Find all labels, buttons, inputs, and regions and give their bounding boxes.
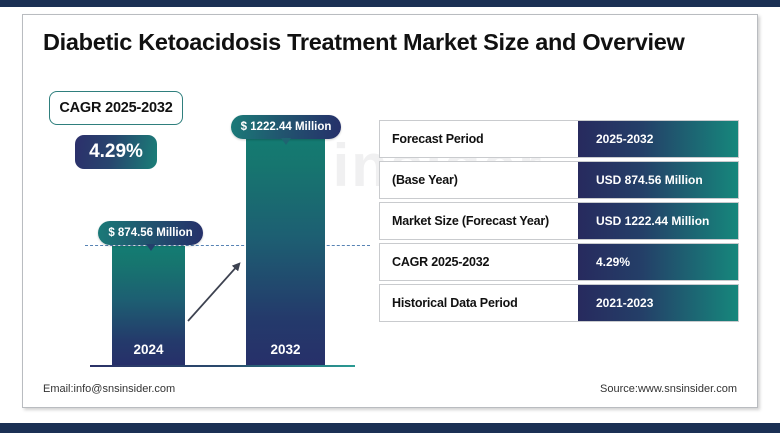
table-cell-value: USD 1222.44 Million bbox=[578, 203, 738, 239]
cagr-value-text: 4.29% bbox=[89, 141, 143, 163]
table-row: CAGR 2025-2032 4.29% bbox=[379, 243, 739, 281]
growth-arrow-icon bbox=[183, 255, 249, 327]
table-cell-label: (Base Year) bbox=[380, 162, 578, 198]
table-cell-label: Forecast Period bbox=[380, 121, 578, 157]
table-row: Forecast Period 2025-2032 bbox=[379, 120, 739, 158]
market-details-table: Forecast Period 2025-2032 (Base Year) US… bbox=[379, 120, 739, 325]
infographic-card: insider Diabetic Ketoacidosis Treatment … bbox=[22, 14, 758, 408]
bottom-accent-strip bbox=[0, 423, 780, 433]
page-title: Diabetic Ketoacidosis Treatment Market S… bbox=[43, 29, 743, 56]
table-cell-value: USD 874.56 Million bbox=[578, 162, 738, 198]
table-row: Historical Data Period 2021-2023 bbox=[379, 284, 739, 322]
table-cell-label: Historical Data Period bbox=[380, 285, 578, 321]
bar-label-2032: 2032 bbox=[246, 342, 325, 357]
value-callout-2032: $ 1222.44 Million bbox=[231, 115, 341, 139]
footer-source: Source:www.snsinsider.com bbox=[600, 383, 737, 395]
bar-label-2024: 2024 bbox=[112, 342, 185, 357]
cagr-label-text: CAGR 2025-2032 bbox=[59, 100, 172, 116]
footer-email: Email:info@snsinsider.com bbox=[43, 383, 175, 395]
top-accent-strip bbox=[0, 0, 780, 7]
bar-2024: 2024 bbox=[112, 246, 185, 365]
table-cell-label: CAGR 2025-2032 bbox=[380, 244, 578, 280]
table-cell-value: 2021-2023 bbox=[578, 285, 738, 321]
cagr-label-badge: CAGR 2025-2032 bbox=[49, 91, 183, 125]
table-row: Market Size (Forecast Year) USD 1222.44 … bbox=[379, 202, 739, 240]
table-row: (Base Year) USD 874.56 Million bbox=[379, 161, 739, 199]
value-callout-2024: $ 874.56 Million bbox=[98, 221, 203, 245]
table-cell-value: 2025-2032 bbox=[578, 121, 738, 157]
infographic-page: insider Diabetic Ketoacidosis Treatment … bbox=[0, 0, 780, 433]
value-callout-2032-text: $ 1222.44 Million bbox=[241, 121, 332, 133]
chart-baseline-axis bbox=[90, 365, 355, 367]
table-cell-label: Market Size (Forecast Year) bbox=[380, 203, 578, 239]
value-callout-2024-text: $ 874.56 Million bbox=[108, 227, 192, 239]
cagr-value-badge: 4.29% bbox=[75, 135, 157, 169]
bar-2032: 2032 bbox=[246, 131, 325, 365]
bar-chart: 2024 2032 $ 874.56 Million $ 1222.44 Mil… bbox=[23, 15, 393, 408]
table-cell-value: 4.29% bbox=[578, 244, 738, 280]
